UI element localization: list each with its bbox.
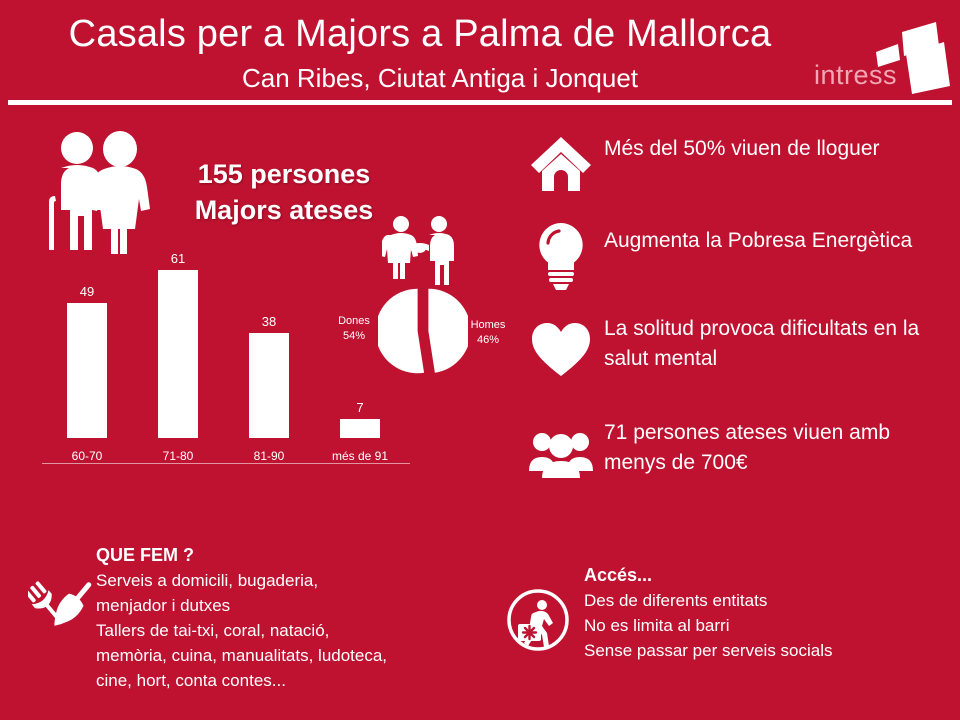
elderly-couple-icon: [42, 126, 162, 254]
intress-logo: intress: [808, 14, 956, 102]
couple-holding-hands-icon: [382, 214, 458, 286]
bar-2: [249, 333, 289, 438]
que-fem-line-1: menjador i dutxes: [96, 593, 492, 618]
pie-label-homes-value: 46%: [460, 333, 516, 348]
pie-label-homes-name: Homes: [460, 318, 516, 333]
que-fem-line-4: cine, hort, conta contes...: [96, 668, 492, 693]
que-fem-body: QUE FEM ? Serveis a domicili, bugaderia,…: [96, 542, 492, 693]
fact-text-housing: Més del 50% viuen de lloguer: [604, 128, 948, 164]
page-title: Casals per a Majors a Palma de Mallorca: [0, 12, 840, 56]
bar-group-2: 38: [224, 270, 314, 438]
house-icon: [518, 128, 604, 200]
que-fem-line-3: memòria, cuina, manualitats, ludoteca,: [96, 643, 492, 668]
acces-line-2: Sense passar per serveis socials: [584, 638, 952, 663]
gender-pie-chart: Dones 54% Homes 46%: [330, 214, 550, 394]
que-fem-line-0: Serveis a domicili, bugaderia,: [96, 568, 492, 593]
fact-item-housing: Més del 50% viuen de lloguer: [518, 128, 948, 212]
pie-label-dones-value: 54%: [326, 329, 382, 344]
bar-group-1: 61: [133, 270, 223, 438]
bar-value-1: 61: [171, 251, 185, 266]
fact-item-income: 71 persones ateses viuen amb menys de 70…: [518, 418, 948, 514]
header: Casals per a Majors a Palma de Mallorca …: [0, 0, 960, 110]
fact-text-energy: Augmenta la Pobresa Energètica: [604, 220, 948, 256]
fact-item-energy: Augmenta la Pobresa Energètica: [518, 220, 948, 306]
acces-line-0: Des de diferents entitats: [584, 588, 952, 613]
accessible-walk-icon: [506, 588, 570, 652]
bar-category-0: 60-70: [72, 449, 103, 463]
que-fem-title: QUE FEM ?: [96, 542, 492, 568]
chart-axis-line: [42, 463, 410, 464]
bar-group-0: 49: [42, 270, 132, 438]
acces-body: Accés... Des de diferents entitats No es…: [584, 562, 952, 663]
que-fem-line-2: Tallers de tai-txi, coral, natació,: [96, 618, 492, 643]
people-group-icon: [518, 418, 604, 490]
bar-0: [67, 303, 107, 438]
fact-text-loneliness: La solitud provoca dificultats en la sal…: [604, 314, 948, 374]
headline-line-1: 155 persones: [160, 156, 408, 192]
fact-item-loneliness: La solitud provoca dificultats en la sal…: [518, 314, 948, 410]
fork-and-trowel-icon: [28, 572, 94, 638]
heart-icon: [518, 314, 604, 386]
facts-list: Més del 50% viuen de lloguer Augmenta la…: [518, 128, 948, 522]
bar-category-1: 71-80: [163, 449, 194, 463]
acces-title: Accés...: [584, 562, 952, 588]
fact-text-income: 71 persones ateses viuen amb menys de 70…: [604, 418, 948, 478]
bar-value-2: 38: [262, 314, 276, 329]
bar-1: [158, 270, 198, 438]
infographic-canvas: Casals per a Majors a Palma de Mallorca …: [0, 0, 960, 720]
pie-label-dones-name: Dones: [326, 314, 382, 329]
bar-value-3: 7: [356, 400, 363, 415]
bar-category-3: més de 91: [332, 449, 388, 463]
pie-label-homes: Homes 46%: [460, 318, 516, 348]
bar-category-2: 81-90: [254, 449, 285, 463]
bar-3: [340, 419, 380, 438]
page-subtitle: Can Ribes, Ciutat Antiga i Jonquet: [0, 62, 880, 94]
bar-value-0: 49: [80, 284, 94, 299]
logo-wordmark: intress: [814, 60, 897, 90]
acces-line-1: No es limita al barri: [584, 613, 952, 638]
pie-label-dones: Dones 54%: [326, 314, 382, 344]
pie-slices: [378, 286, 468, 376]
lightbulb-icon: [518, 220, 604, 292]
